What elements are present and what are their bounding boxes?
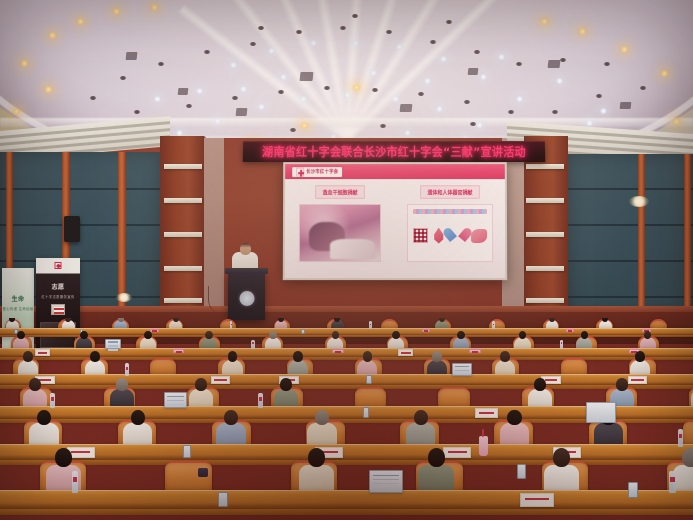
desk-leaflet: [398, 349, 413, 355]
slide-body: 造血干细胞捐献 遗体和人体器官捐献: [285, 179, 505, 278]
attendee-torso: [495, 360, 515, 375]
attendee-head: [500, 351, 510, 362]
auditorium-seat: [355, 387, 387, 408]
attendee-torso: [418, 465, 454, 491]
slide-org-tab: 长沙市红十字会: [292, 167, 342, 177]
ceiling-recessed-fixture: [464, 100, 470, 104]
ceiling-downlight: [440, 56, 447, 62]
ceiling-downlight: [48, 32, 57, 39]
ceiling-recessed-fixture: [604, 62, 610, 66]
ceiling-downlight: [404, 130, 411, 136]
desk-name-card: [173, 349, 184, 353]
attendee-head: [553, 448, 570, 467]
attendee-head: [428, 448, 445, 467]
rollup-badge-icon: [51, 304, 65, 315]
lecture-desk-front: [0, 460, 693, 465]
ceiling-recessed-fixture: [386, 30, 392, 34]
ceiling-downlight: [436, 106, 443, 112]
ceiling-recessed-fixture: [296, 30, 302, 34]
water-bottle: [230, 321, 232, 329]
attendee-torso: [630, 360, 650, 375]
ceiling-recessed-fixture: [90, 96, 96, 100]
led-banner: 湖南省红十字会联合长沙市红十字会“三献”宣讲活动: [243, 141, 546, 162]
attendee-torso: [216, 423, 245, 445]
attendee-torso: [500, 423, 529, 445]
attendee-head: [457, 331, 465, 339]
ceiling-downlight: [240, 86, 247, 92]
mobile-phone: [628, 482, 638, 498]
attendee-head: [519, 331, 527, 339]
attendee-torso: [528, 389, 552, 407]
ceiling-recessed-fixture: [134, 110, 140, 114]
mobile-phone: [218, 492, 227, 508]
ceiling-downlight: [352, 84, 361, 91]
desk-leaflet: [211, 376, 230, 384]
attendee-torso: [123, 423, 152, 445]
lecture-desk: [0, 348, 693, 357]
ceiling-recessed-fixture: [158, 62, 164, 66]
dark-cup: [198, 468, 208, 477]
ceiling-downlight: [540, 18, 549, 25]
ceiling-downlight: [620, 46, 629, 53]
mobile-phone: [363, 407, 369, 418]
water-bottle: [50, 393, 55, 408]
ceiling-recessed-fixture: [324, 86, 330, 90]
mobile-phone: [517, 464, 526, 479]
lecture-desk-front: [0, 509, 693, 515]
ceiling-vent: [548, 60, 561, 68]
ceiling-downlight: [476, 122, 483, 128]
attendee-torso: [189, 389, 213, 407]
presentation-slide: 长沙市红十字会 造血干细胞捐献 遗体和人体器官捐献: [285, 164, 505, 278]
attendee-torso: [23, 389, 47, 407]
attendee-head: [682, 448, 693, 467]
attendee-head: [131, 410, 145, 425]
wall-light-glow: [116, 293, 132, 302]
ceiling-downlight: [660, 70, 669, 77]
lecture-desk-front: [0, 385, 693, 389]
attendee-head: [308, 448, 325, 467]
attendee-head: [363, 351, 373, 362]
ceiling-recessed-fixture: [372, 88, 378, 92]
ceiling-vent: [468, 68, 479, 75]
lecture-desk: [0, 374, 693, 385]
laptop: [164, 392, 187, 408]
ceiling-downlight: [352, 40, 359, 46]
attendee-torso: [274, 389, 298, 407]
attendee-torso: [29, 423, 58, 445]
laptop: [452, 363, 471, 376]
ceiling-downlight: [578, 28, 587, 35]
attendee-head: [414, 410, 428, 425]
attendee-head: [534, 378, 546, 391]
ceiling-downlight: [370, 70, 377, 76]
ceiling-vent: [300, 72, 314, 81]
heart-people-icon: [449, 227, 466, 244]
lecture-desk: [0, 490, 693, 509]
water-bottle: [678, 429, 684, 447]
ceiling-recessed-fixture: [186, 104, 192, 108]
ceiling-downlight: [76, 18, 85, 25]
rollup-dark-subtitle: 红十字志愿服务宣传: [36, 294, 80, 299]
ceiling-recessed-fixture: [250, 42, 256, 46]
wall-wood-strip: [638, 154, 645, 322]
ceiling-recessed-fixture: [516, 62, 522, 66]
column-accent-bar: [526, 198, 564, 203]
attendee-torso: [594, 423, 623, 445]
caring-hand-icon: [471, 229, 487, 243]
lecture-desk: [0, 444, 693, 460]
water-bottle: [492, 321, 494, 329]
desk-name-card: [150, 329, 159, 332]
mobile-phone: [366, 375, 371, 384]
audience-seating: [0, 318, 693, 520]
column-accent-bar: [526, 266, 564, 271]
column-accent-bar: [164, 298, 202, 303]
water-bottle: [369, 321, 371, 329]
wall-wood-strip: [684, 154, 691, 322]
laptop: [586, 402, 616, 423]
ceiling-downlight: [300, 122, 309, 129]
ceiling-downlight: [556, 78, 563, 84]
podium-top: [225, 268, 268, 274]
ceiling-downlight: [300, 96, 307, 102]
loudspeaker-icon: [64, 216, 80, 242]
attendee-head: [37, 410, 51, 425]
ceiling-recessed-fixture: [560, 58, 566, 62]
mobile-phone: [183, 445, 191, 458]
water-bottle: [72, 471, 79, 493]
ceiling-downlight: [214, 118, 221, 124]
desk-name-card: [566, 329, 575, 332]
ceiling-vent: [236, 108, 248, 116]
ceiling-downlight: [20, 60, 29, 67]
desk-leaflet: [475, 408, 498, 418]
ceiling-recessed-fixture: [596, 94, 602, 98]
attendee-head: [507, 410, 521, 425]
mobile-phone: [301, 329, 304, 335]
ceiling-recessed-fixture: [430, 40, 436, 44]
red-cross-icon: [55, 262, 62, 269]
slide-panel-right: 遗体和人体器官捐献: [395, 179, 505, 278]
attendee-torso: [110, 389, 134, 407]
column-accent-bar: [164, 164, 202, 169]
slide-panel-left: 造血干细胞捐献: [285, 179, 395, 278]
ceiling-downlight: [600, 108, 607, 114]
attendee-torso: [406, 423, 435, 445]
ceiling-vent: [178, 88, 189, 95]
desk-name-card: [469, 349, 480, 353]
desk-name-card: [332, 349, 343, 353]
attendee-torso: [307, 423, 336, 445]
ceiling-downlight: [12, 108, 21, 115]
rollup-green-subtitle: 爱心传递 生命延续: [2, 306, 34, 311]
attendee-head: [23, 351, 33, 362]
rollup-green-title: 生命: [2, 294, 34, 303]
attendee-torso: [222, 360, 242, 375]
ceiling-downlight: [498, 54, 505, 60]
attendee-head: [278, 318, 284, 322]
attendee-head: [332, 331, 340, 339]
ceiling-recessed-fixture: [380, 124, 386, 128]
laptop: [369, 470, 403, 493]
ceiling-downlight: [310, 40, 317, 46]
ceiling-downlight: [396, 44, 403, 50]
ceiling-recessed-fixture: [418, 92, 424, 96]
attendee-head: [90, 351, 100, 362]
ceiling-downlight: [176, 130, 183, 136]
column-accent-bar: [164, 198, 202, 203]
desk-leaflet: [443, 447, 471, 459]
ceiling-downlight: [230, 62, 237, 68]
attendee-torso: [85, 360, 105, 375]
ceiling-recessed-fixture: [474, 50, 480, 54]
ceiling-vent: [400, 104, 413, 112]
water-bottle: [125, 363, 129, 375]
laptop: [105, 339, 120, 350]
ceiling-recessed-fixture: [120, 76, 126, 80]
attendee-head: [293, 351, 303, 362]
ceiling-downlight: [154, 96, 161, 102]
wall-panel-teal-right: [568, 154, 693, 322]
speaker-head: [240, 243, 251, 255]
auditorium-seat: [683, 420, 693, 446]
desk-leaflet: [628, 376, 647, 384]
ceiling-recessed-fixture: [232, 96, 238, 100]
lecture-desk: [0, 328, 693, 335]
column-accent-bar: [164, 232, 202, 237]
attendee-head: [269, 331, 277, 339]
red-cross-icon: [296, 167, 304, 176]
attendee-head: [116, 378, 128, 391]
attendee-head: [144, 331, 152, 339]
ceiling-downlight: [150, 4, 159, 11]
attendee-head: [635, 351, 645, 362]
attendee-head: [280, 378, 292, 391]
ceiling-downlight: [480, 74, 487, 80]
attendee-head: [29, 378, 41, 391]
ceiling-downlight: [424, 78, 431, 84]
water-bottle: [560, 340, 563, 350]
attendee-torso: [357, 360, 377, 375]
ceiling-downlight: [392, 96, 399, 102]
slide-right-icons: [407, 204, 493, 262]
attendee-head: [228, 351, 238, 362]
slide-left-title: 造血干细胞捐献: [316, 185, 365, 199]
attendee-head: [616, 378, 628, 391]
ceiling-downlight: [112, 8, 121, 15]
attendee-head: [205, 331, 213, 339]
slide-right-title: 遗体和人体器官捐献: [420, 185, 479, 199]
ceiling-recessed-fixture: [446, 20, 452, 24]
ceiling-vent: [620, 102, 632, 109]
pink-tumbler: [479, 436, 488, 456]
wall-light-glow: [629, 196, 649, 207]
ceiling-recessed-fixture: [470, 122, 476, 126]
desk-leaflet: [520, 493, 554, 507]
ceiling-recessed-fixture: [278, 90, 284, 94]
ceiling-recessed-fixture: [290, 128, 296, 132]
ceiling-downlight: [196, 88, 203, 94]
ceiling-recessed-fixture: [640, 86, 646, 90]
attendee-torso: [18, 360, 38, 375]
attendee-head: [392, 331, 400, 339]
ceiling-downlight: [516, 96, 523, 102]
attendee-torso: [673, 465, 693, 491]
school-emblem-icon: [239, 291, 254, 306]
ceiling-recessed-fixture: [258, 26, 264, 30]
attendee-head: [55, 448, 72, 467]
ceiling-downlight: [586, 120, 593, 126]
attendee-head: [432, 351, 442, 362]
water-bottle: [258, 393, 263, 408]
slide-header-bar: 长沙市红十字会: [285, 164, 505, 179]
podium: [228, 272, 265, 320]
attendee-torso: [544, 465, 580, 491]
attendee-torso: [427, 360, 447, 375]
desk-leaflet: [35, 349, 50, 355]
attendee-head: [118, 318, 124, 322]
ceiling-downlight: [280, 74, 287, 80]
attendee-head: [581, 331, 589, 339]
slide-org-label: 长沙市红十字会: [306, 168, 338, 175]
attendee-torso: [288, 360, 308, 375]
column-accent-bar: [164, 266, 202, 271]
ceiling-recessed-fixture: [352, 14, 358, 18]
attendee-head: [224, 410, 238, 425]
ceiling-recessed-fixture: [340, 26, 346, 30]
desk-name-card: [422, 329, 431, 332]
attendee-head: [173, 318, 179, 322]
qr-code-icon: [413, 228, 428, 243]
attendee-torso: [299, 465, 335, 491]
ceiling-recessed-fixture: [508, 110, 514, 114]
ceiling-downlight: [268, 48, 275, 54]
ceiling-recessed-fixture: [552, 110, 558, 114]
ceiling-downlight: [672, 118, 681, 125]
ceiling-downlight: [258, 104, 265, 110]
led-banner-text: 湖南省红十字会联合长沙市红十字会“三献”宣讲活动: [262, 144, 526, 161]
column-accent-bar: [526, 232, 564, 237]
auditorium-photo: 湖南省红十字会联合长沙市红十字会“三献”宣讲活动 长沙市红十字会 造血干细胞捐献…: [0, 0, 693, 520]
slide-left-photo: [299, 204, 381, 262]
rollup-dark-title: 志愿: [36, 282, 80, 291]
water-bottle: [251, 340, 254, 350]
projection-screen: 长沙市红十字会 造血干细胞捐献 遗体和人体器官捐献: [283, 162, 507, 280]
attendee-head: [17, 331, 25, 339]
column-accent-bar: [526, 164, 564, 169]
ceiling-recessed-fixture: [204, 50, 210, 54]
ceiling-downlight: [344, 92, 351, 98]
ceiling-vent: [126, 52, 138, 60]
attendee-head: [80, 331, 88, 339]
ceiling-downlight: [44, 86, 53, 93]
attendee-head: [195, 378, 207, 391]
water-bottle: [669, 471, 676, 493]
attendee-head: [439, 318, 445, 322]
column-accent-bar: [526, 298, 564, 303]
auditorium-seat: [438, 387, 470, 408]
attendee-head: [315, 410, 329, 425]
